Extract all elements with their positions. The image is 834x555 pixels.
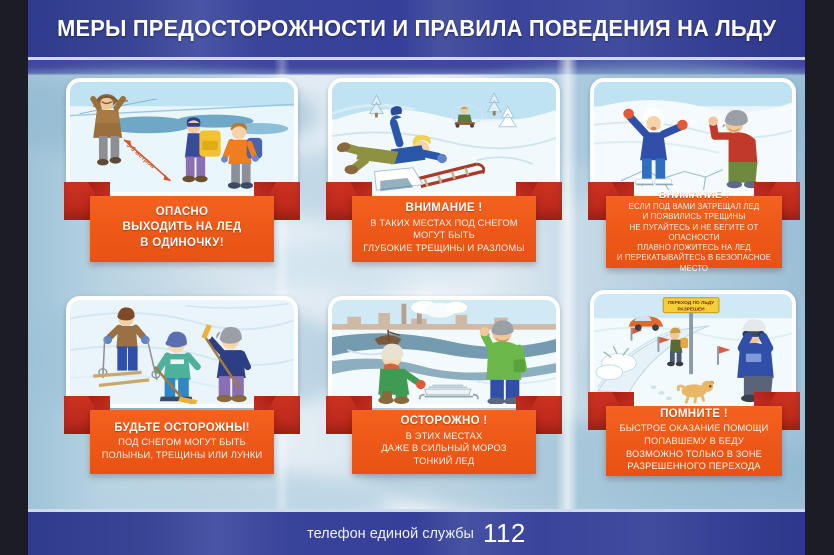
svg-text:ПЕРЕХОД ПО ЛЬДУ: ПЕРЕХОД ПО ЛЬДУ xyxy=(668,300,714,306)
banner-1-line-2: В ОДИНОЧКУ! xyxy=(96,236,268,251)
card-6: ПЕРЕХОД ПО ЛЬДУ РАЗРЕШЕН xyxy=(590,290,796,420)
banner-2-line-3: ГЛУБОКИЕ ТРЕЩИНЫ И РАЗЛОМЫ xyxy=(358,242,530,255)
banner-3-line-5: И ПЕРЕКАТЫВАЙТЕСЬ В БЕЗОПАСНОЕ МЕСТО xyxy=(612,253,776,274)
banner-2-line-1: В ТАКИХ МЕСТАХ ПОД СНЕГОМ xyxy=(358,217,530,230)
banner-3-line-3: НЕ ПУГАЙТЕСЬ И НЕ БЕГИТЕ ОТ ОПАСНОСТИ xyxy=(612,223,776,244)
banner-4: БУДЬТЕ ОСТОРОЖНЫ! ПОД СНЕГОМ МОГУТ БЫТЬ … xyxy=(64,396,300,474)
illustration-child-with-sled-near-thin-ice-by-factory xyxy=(328,296,560,408)
banner-6-line-4: РАЗРЕШЕННОГО ПЕРЕХОДА xyxy=(612,460,776,473)
banner-4-line-1: ПОД СНЕГОМ МОГУТ БЫТЬ xyxy=(96,436,268,449)
banner-1-plate: ОПАСНО ВЫХОДИТЬ НА ЛЕД В ОДИНОЧКУ! xyxy=(90,196,274,262)
banner-5-line-3: ТОНКИЙ ЛЕД xyxy=(358,455,530,468)
poster-title: МЕРЫ ПРЕДОСТОРОЖНОСТИ И ПРАВИЛА ПОВЕДЕНИ… xyxy=(57,15,776,42)
card-4: БУДЬТЕ ОСТОРОЖНЫ! ПОД СНЕГОМ МОГУТ БЫТЬ … xyxy=(66,296,298,421)
banner-2-headline: ВНИМАНИЕ ! xyxy=(358,201,530,216)
banner-5: ОСТОРОЖНО ! В ЭТИХ МЕСТАХ ДАЖЕ В СИЛЬНЫЙ… xyxy=(326,396,562,474)
banner-4-line-2: ПОЛЫНЬИ, ТРЕЩИНЫ ИЛИ ЛУНКИ xyxy=(96,449,268,462)
banner-2-line-2: МОГУТ БЫТЬ xyxy=(358,229,530,242)
banner-6-plate: ПОМНИТЕ ! БЫСТРОЕ ОКАЗАНИЕ ПОМОЩИ ПОПАВШ… xyxy=(606,406,782,476)
banner-2-plate: ВНИМАНИЕ ! В ТАКИХ МЕСТАХ ПОД СНЕГОМ МОГ… xyxy=(352,196,536,262)
card-1: 5-6 метров xyxy=(66,78,298,208)
illustration-skier-and-hockey-players-on-snowy-ice xyxy=(66,296,298,408)
banner-6-line-3: ВОЗМОЖНО ТОЛЬКО В ЗОНЕ xyxy=(612,448,776,461)
illustration-official-ice-crossing-with-rescuer: ПЕРЕХОД ПО ЛЬДУ РАЗРЕШЕН xyxy=(590,290,796,408)
banner-3-headline: ВНИМАНИЕ ! xyxy=(612,188,776,202)
banner-4-headline: БУДЬТЕ ОСТОРОЖНЫ! xyxy=(96,421,268,436)
banner-3-line-2: И ПОЯВИЛИСЬ ТРЕЩИНЫ xyxy=(612,212,776,222)
illustration-child-on-cracking-ice-with-adult xyxy=(590,78,796,196)
banner-3-plate: ВНИМАНИЕ ! ЕСЛИ ПОД ВАМИ ЗАТРЕЩАЛ ЛЕД И … xyxy=(606,196,782,268)
screenshot-stage: МЕРЫ ПРЕДОСТОРОЖНОСТИ И ПРАВИЛА ПОВЕДЕНИ… xyxy=(0,0,834,555)
banner-1-headline: ОПАСНО xyxy=(96,205,268,220)
banner-6-headline: ПОМНИТЕ ! xyxy=(612,407,776,422)
banner-5-headline: ОСТОРОЖНО ! xyxy=(358,414,530,429)
poster-footer: телефон единой службы 112 xyxy=(28,509,805,555)
svg-text:РАЗРЕШЕН: РАЗРЕШЕН xyxy=(678,306,706,312)
banner-6-line-1: БЫСТРОЕ ОКАЗАНИЕ ПОМОЩИ xyxy=(612,422,776,435)
banner-5-plate: ОСТОРОЖНО ! В ЭТИХ МЕСТАХ ДАЖЕ В СИЛЬНЫЙ… xyxy=(352,410,536,474)
banner-5-line-2: ДАЖЕ В СИЛЬНЫЙ МОРОЗ xyxy=(358,442,530,455)
banner-1: ОПАСНО ВЫХОДИТЬ НА ЛЕД В ОДИНОЧКУ! xyxy=(64,182,300,262)
safety-poster: МЕРЫ ПРЕДОСТОРОЖНОСТИ И ПРАВИЛА ПОВЕДЕНИ… xyxy=(28,0,805,555)
card-3: ВНИМАНИЕ ! ЕСЛИ ПОД ВАМИ ЗАТРЕЩАЛ ЛЕД И … xyxy=(590,78,796,208)
banner-6: ПОМНИТЕ ! БЫСТРОЕ ОКАЗАНИЕ ПОМОЩИ ПОПАВШ… xyxy=(588,392,800,476)
banner-3-line-1: ЕСЛИ ПОД ВАМИ ЗАТРЕЩАЛ ЛЕД xyxy=(612,202,776,212)
banner-5-line-1: В ЭТИХ МЕСТАХ xyxy=(358,430,530,443)
card-2: ВНИМАНИЕ ! В ТАКИХ МЕСТАХ ПОД СНЕГОМ МОГ… xyxy=(328,78,560,208)
illustration-man-falling-through-ice-with-two-children: 5-6 метров xyxy=(66,78,298,196)
banner-3-line-4: ПЛАВНО ЛОЖИТЕСЬ НА ЛЕД xyxy=(612,243,776,253)
emergency-phone-number: 112 xyxy=(483,518,526,549)
banner-1-line-1: ВЫХОДИТЬ НА ЛЕД xyxy=(96,220,268,235)
card-5: ОСТОРОЖНО ! В ЭТИХ МЕСТАХ ДАЖЕ В СИЛЬНЫЙ… xyxy=(328,296,560,421)
banner-2: ВНИМАНИЕ ! В ТАКИХ МЕСТАХ ПОД СНЕГОМ МОГ… xyxy=(326,182,562,262)
emergency-phone-label: телефон единой службы xyxy=(307,526,474,542)
poster-header: МЕРЫ ПРЕДОСТОРОЖНОСТИ И ПРАВИЛА ПОВЕДЕНИ… xyxy=(28,0,805,60)
banner-3: ВНИМАНИЕ ! ЕСЛИ ПОД ВАМИ ЗАТРЕЩАЛ ЛЕД И … xyxy=(588,182,800,268)
banner-6-line-2: ПОПАВШЕМУ В БЕДУ xyxy=(612,435,776,448)
illustration-child-falling-off-sled-on-snow xyxy=(328,78,560,196)
banner-4-plate: БУДЬТЕ ОСТОРОЖНЫ! ПОД СНЕГОМ МОГУТ БЫТЬ … xyxy=(90,410,274,474)
